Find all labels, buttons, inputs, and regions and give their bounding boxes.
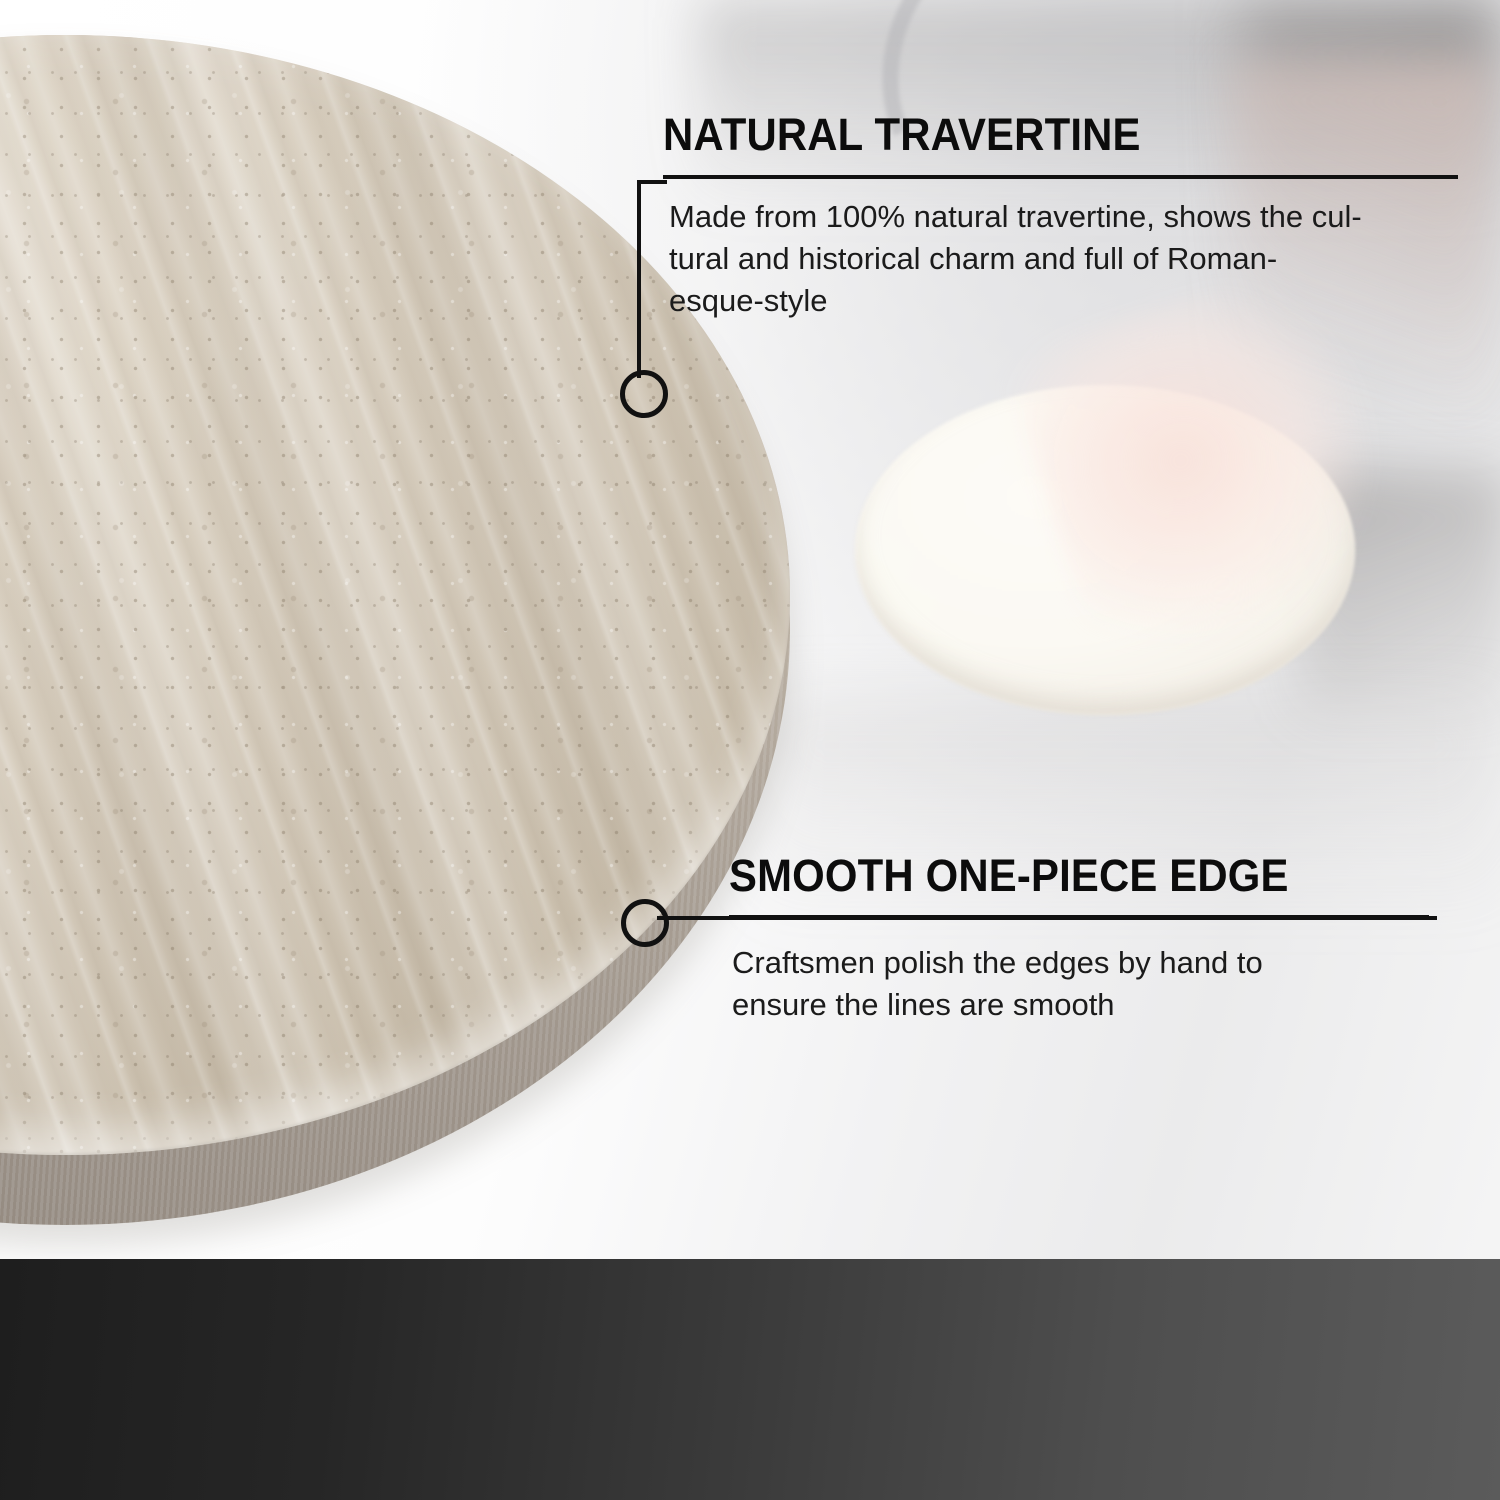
callout-title-smooth-edge: SMOOTH ONE-PIECE EDGE	[729, 853, 1385, 898]
callout-natural-travertine: NATURAL TRAVERTINE Made from 100% natura…	[663, 112, 1463, 322]
callout-body-natural-travertine: Made from 100% natural travertine, shows…	[669, 196, 1444, 322]
callout-marker-natural-travertine	[620, 370, 668, 418]
please-note-banner: PLEASE NOTE: Natural marble variations o…	[0, 1259, 1500, 1500]
callout-rule-natural-travertine	[663, 175, 1458, 179]
product-infographic: NATURAL TRAVERTINE Made from 100% natura…	[0, 0, 1500, 1500]
callout-marker-smooth-edge	[621, 899, 669, 947]
callout-smooth-one-piece-edge: SMOOTH ONE-PIECE EDGE Craftsmen polish t…	[729, 853, 1434, 1026]
callout-body-smooth-edge: Craftsmen polish the edges by hand to en…	[732, 942, 1432, 1026]
leader-line-vertical-natural	[637, 180, 641, 378]
callout-rule-smooth-edge	[729, 915, 1429, 919]
callout-title-natural-travertine: NATURAL TRAVERTINE	[663, 112, 1407, 157]
